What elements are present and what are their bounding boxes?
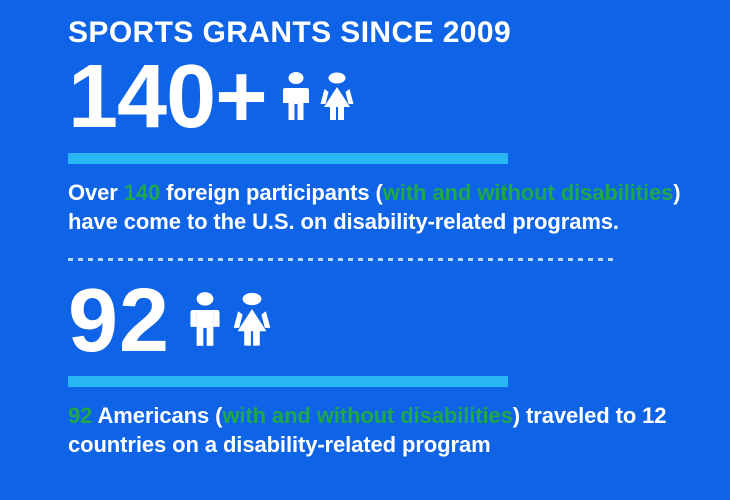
text-segment: Americans ( xyxy=(92,403,222,428)
highlight-phrase: with and without disabilities xyxy=(222,403,512,428)
dotted-divider xyxy=(68,258,618,261)
female-person-icon xyxy=(232,291,272,347)
stat-number-1: 140+ xyxy=(68,55,267,141)
page-title: SPORTS GRANTS SINCE 2009 xyxy=(68,0,730,49)
people-icon-group-1 xyxy=(279,71,355,121)
highlight-number: 140 xyxy=(124,180,160,205)
accent-bar-2 xyxy=(68,376,508,387)
highlight-phrase: with and without disabilities xyxy=(383,180,673,205)
infographic-root: SPORTS GRANTS SINCE 2009 140+ xyxy=(0,0,730,500)
accent-bar-1 xyxy=(68,153,508,164)
highlight-number: 92 xyxy=(68,403,92,428)
male-person-icon xyxy=(186,291,224,347)
male-person-icon xyxy=(279,71,313,121)
stat-description-2: 92 Americans (with and without disabilit… xyxy=(68,401,688,459)
stat-block-1: 140+ xyxy=(68,55,730,236)
female-person-icon xyxy=(319,71,355,121)
stat-block-2: 92 xyxy=(68,279,730,460)
text-segment: foreign participants ( xyxy=(160,180,383,205)
stat-headline-row-2: 92 xyxy=(68,279,730,365)
stat-number-2: 92 xyxy=(68,279,170,365)
stat-headline-row-1: 140+ xyxy=(68,55,730,141)
stat-description-1: Over 140 foreign participants (with and … xyxy=(68,178,688,236)
text-segment: Over xyxy=(68,180,124,205)
people-icon-group-2 xyxy=(186,291,272,347)
